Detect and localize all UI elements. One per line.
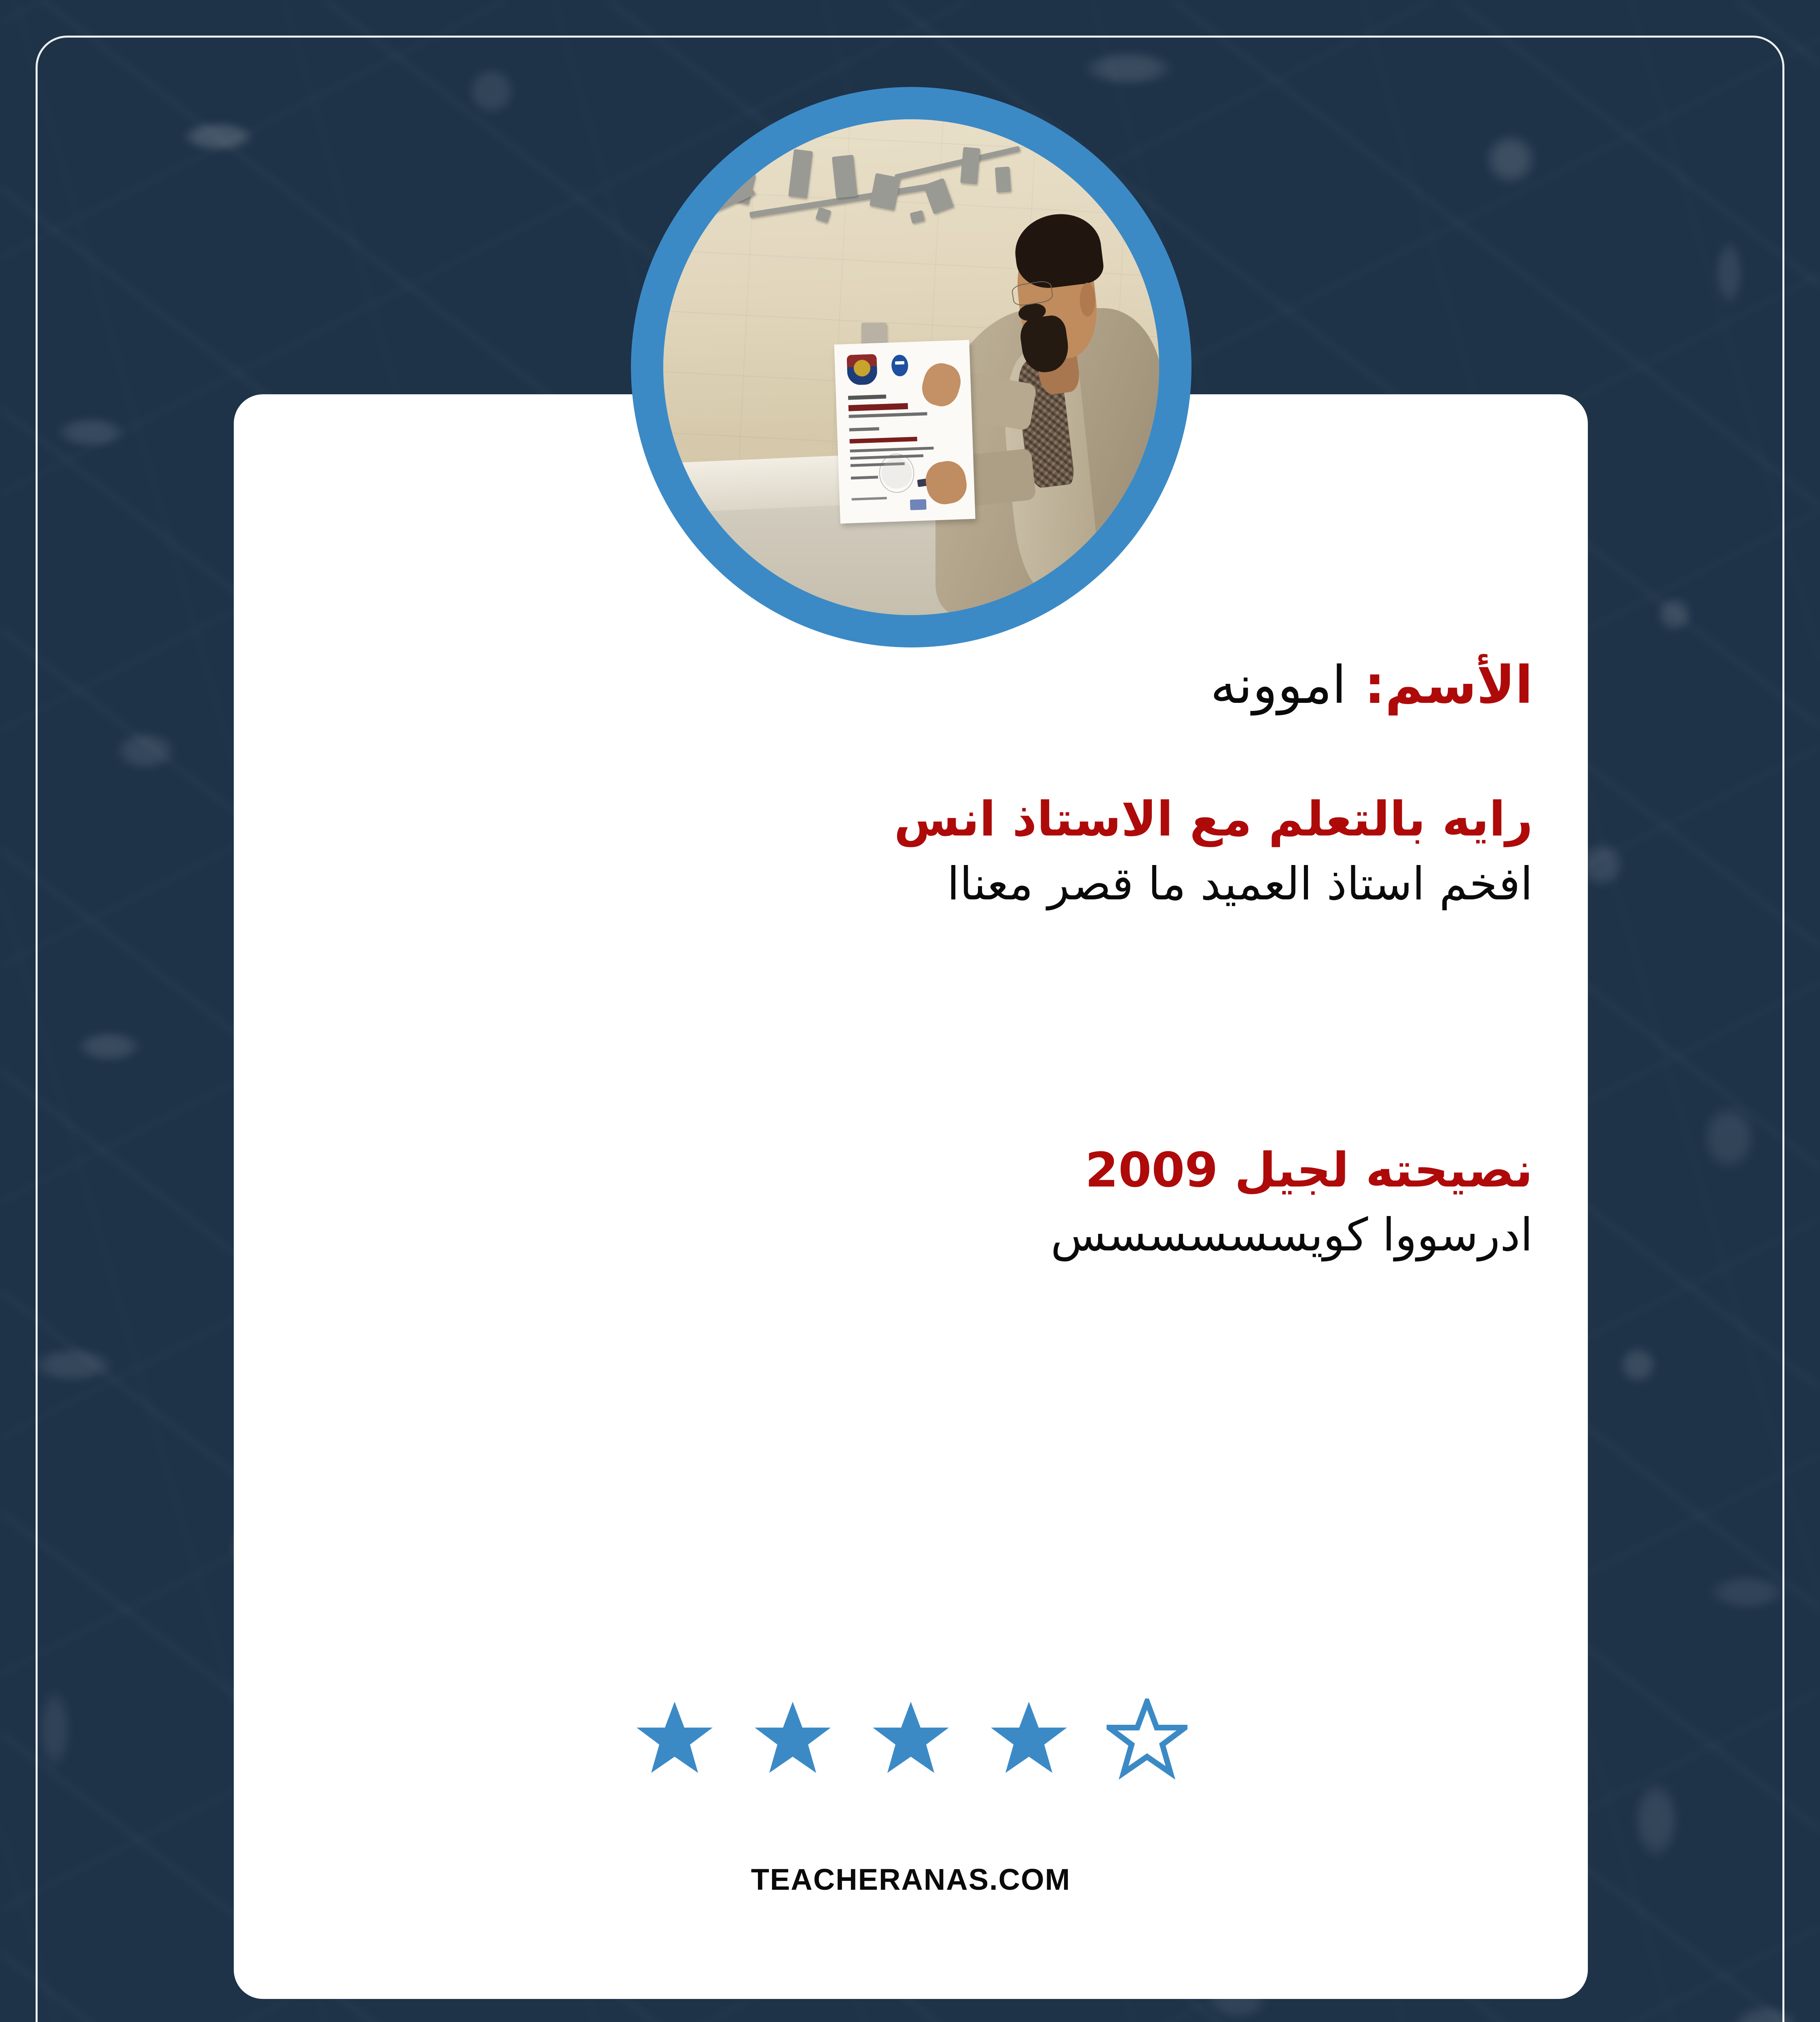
opinion-heading: رايه بالتعلم مع الاستاذ انس <box>289 789 1533 849</box>
website-footer: TEACHERANAS.COM <box>234 1862 1588 1897</box>
star-filled-icon[interactable] <box>870 1698 951 1779</box>
star-empty-icon[interactable] <box>1107 1698 1187 1779</box>
advice-body: ادرسووا كويسسسسسس <box>289 1206 1533 1265</box>
testimonial-poster: الأسم: اموونه رايه بالتعلم مع الاستاذ ان… <box>0 0 1820 2022</box>
testimonial-content: الأسم: اموونه رايه بالتعلم مع الاستاذ ان… <box>234 394 1588 1999</box>
opinion-block: رايه بالتعلم مع الاستاذ انس افخم استاذ ا… <box>289 789 1533 914</box>
star-filled-icon[interactable] <box>634 1698 715 1779</box>
student-name-label: الأسم: <box>1364 655 1533 715</box>
rating-stars <box>234 1698 1588 1779</box>
star-filled-icon[interactable] <box>988 1698 1069 1779</box>
advice-block: نصيحته لجيل 2009 ادرسووا كويسسسسسس <box>289 1140 1533 1265</box>
student-name-row: الأسم: اموونه <box>289 653 1533 718</box>
student-name-value: اموونه <box>1211 655 1346 715</box>
star-filled-icon[interactable] <box>752 1698 833 1779</box>
opinion-body: افخم استاذ العميد ما قصر معناا <box>289 855 1533 914</box>
advice-heading: نصيحته لجيل 2009 <box>289 1140 1533 1200</box>
